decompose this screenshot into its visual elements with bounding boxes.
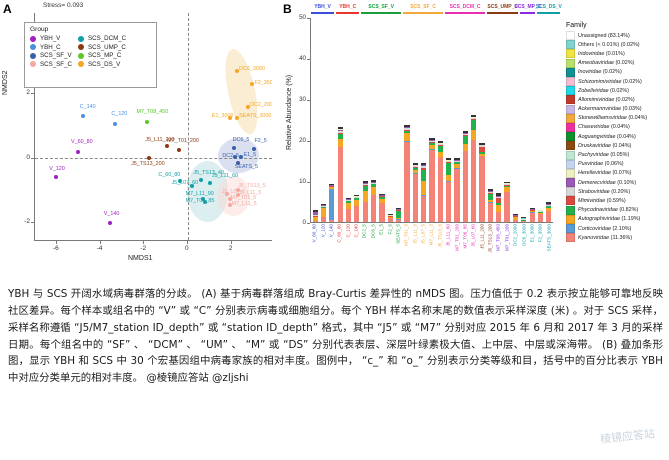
panel-b-y-tick: 30 bbox=[292, 96, 306, 103]
stacked-bar[interactable] bbox=[371, 180, 376, 222]
bar-slot bbox=[336, 18, 344, 222]
stacked-bar[interactable] bbox=[479, 143, 484, 222]
family-legend-swatch bbox=[566, 123, 575, 132]
bar-slot bbox=[478, 18, 486, 222]
family-legend-label: Druskaviridae (0.04%) bbox=[578, 143, 631, 149]
x-label-slot: DC2_2000 bbox=[511, 224, 519, 268]
stacked-bar[interactable] bbox=[546, 202, 551, 222]
stacked-bar[interactable] bbox=[321, 204, 326, 222]
group-legend-label: SCS_SF_V bbox=[40, 52, 72, 59]
family-legend-swatch bbox=[566, 169, 575, 178]
nmds-point[interactable] bbox=[54, 175, 58, 179]
stacked-bar[interactable] bbox=[396, 208, 401, 222]
stacked-bar[interactable] bbox=[463, 131, 468, 222]
group-strip-segment bbox=[311, 12, 334, 14]
bar-slot bbox=[353, 18, 361, 222]
panel-a-x-tick-mark bbox=[56, 241, 57, 244]
panel-b-x-tick-label: C_60_80 bbox=[337, 224, 342, 243]
figure-caption: YBH 与 SCS 开阔水域病毒群落的分歧。 (A) 基于病毒群落组成 Bray… bbox=[8, 286, 663, 387]
panel-b-x-tick-label: V_140 bbox=[328, 224, 333, 237]
bar-slot bbox=[378, 18, 386, 222]
family-legend-item[interactable]: Allomimiviridae (0.02%) bbox=[566, 95, 669, 104]
panel-b-y-tick-mark bbox=[307, 59, 310, 60]
group-legend-label: YBH_V bbox=[40, 35, 60, 42]
bar-segment bbox=[338, 139, 343, 146]
panel-b-x-tick-label: V_120 bbox=[320, 224, 325, 237]
family-legend-label: Corticoviridae (2.10%) bbox=[578, 226, 631, 232]
nmds-point-label: J5_TS13_5 bbox=[238, 183, 266, 189]
nmds-point-label: V_120 bbox=[49, 166, 65, 172]
x-label-slot: M7_T08_85 bbox=[461, 224, 469, 268]
nmds-point-label: DC2_2000 bbox=[250, 102, 272, 108]
group-strip-label: SCS_SF_V bbox=[368, 4, 394, 10]
bar-slot bbox=[495, 18, 503, 222]
family-legend-swatch bbox=[566, 59, 575, 68]
bar-slot bbox=[319, 18, 327, 222]
x-label-slot: M7_T01_200 bbox=[503, 224, 511, 268]
bar-slot bbox=[428, 18, 436, 222]
family-legend-swatch bbox=[566, 215, 575, 224]
panel-a-y-tick-mark bbox=[31, 93, 34, 94]
bar-slot bbox=[445, 18, 453, 222]
bar-segment bbox=[421, 170, 426, 181]
bar-slot bbox=[369, 18, 377, 222]
stacked-bar[interactable] bbox=[346, 198, 351, 222]
family-legend-swatch bbox=[566, 178, 575, 187]
group-legend-item[interactable]: SCS_MP_C bbox=[78, 52, 126, 59]
group-legend-item[interactable]: SCS_UMP_C bbox=[78, 44, 126, 51]
panel-a-x-tick-mark bbox=[187, 241, 188, 244]
panel-b-x-tick-label: M7_T01_200 bbox=[454, 224, 459, 251]
x-label-slot: V_140 bbox=[327, 224, 335, 268]
bar-segment bbox=[471, 130, 476, 139]
family-legend-label: Autographiviridae (1.19%) bbox=[578, 216, 640, 222]
bar-segment bbox=[363, 191, 368, 202]
panel-b-x-tick-label: SEATS_5 bbox=[395, 224, 400, 244]
panel-b-x-tick-label: J5_TS13_5 bbox=[437, 224, 442, 248]
family-legend-label: Zobellviridae (0.02%) bbox=[578, 88, 629, 94]
panel-b-y-tick: 40 bbox=[292, 55, 306, 62]
bar-segment bbox=[421, 196, 426, 222]
family-legend-item[interactable]: Demerecviridae (0.10%) bbox=[566, 178, 669, 187]
bar-slot bbox=[436, 18, 444, 222]
family-legend-label: Ameobaviridae (0.02%) bbox=[578, 60, 634, 66]
nmds-point[interactable] bbox=[76, 150, 80, 154]
panel-b-y-tick: 50 bbox=[292, 14, 306, 21]
family-legend-title: Family bbox=[566, 22, 669, 29]
panel-b-x-tick-label: M7_T01_200 bbox=[504, 224, 509, 251]
stacked-bar[interactable] bbox=[488, 189, 493, 222]
panel-b-x-tick-label: E1_3000 bbox=[529, 224, 534, 242]
panel-b-y-tick: 0 bbox=[292, 219, 306, 226]
family-legend-label: Ackermannviridae (0.03%) bbox=[578, 106, 642, 112]
x-label-slot: J5_TS13_5 bbox=[436, 224, 444, 268]
bar-slot bbox=[394, 18, 402, 222]
stacked-bar[interactable] bbox=[454, 158, 459, 222]
bar-segment bbox=[404, 142, 409, 222]
panel-b-x-tick-label: J5_L07_60 bbox=[471, 224, 476, 247]
family-legend-label: Schizomimiviridae (0.02%) bbox=[578, 79, 642, 85]
panel-a-x-tick-mark bbox=[231, 241, 232, 244]
bar-slot bbox=[403, 18, 411, 222]
panel-a-x-tick: -6 bbox=[48, 245, 64, 252]
group-legend-swatch bbox=[30, 53, 36, 59]
family-legend-label: Straboviridae (0.20%) bbox=[578, 189, 630, 195]
stacked-bar[interactable] bbox=[413, 163, 418, 222]
panel-b-x-tick-label: M7_T01_5 bbox=[404, 224, 409, 246]
nmds-point[interactable] bbox=[147, 156, 151, 160]
x-label-slot: E1_3000 bbox=[528, 224, 536, 268]
stacked-bar[interactable] bbox=[513, 214, 518, 222]
family-legend-item[interactable]: Kyanoviridae (11.36%) bbox=[566, 233, 669, 242]
panel-a-y-axis-label: NMDS2 bbox=[2, 70, 9, 95]
panel-b-x-tick-label: DC6_5 bbox=[370, 224, 375, 238]
group-legend-swatch bbox=[78, 61, 84, 67]
nmds-point[interactable] bbox=[165, 144, 169, 148]
group-strip-segment bbox=[445, 12, 485, 14]
stacked-bar[interactable] bbox=[521, 217, 526, 222]
nmds-point-label: SEATS_3000 bbox=[239, 113, 271, 119]
nmds-point-label: M7_T08_85 bbox=[186, 198, 215, 204]
nmds-point-label: F2_5 bbox=[254, 138, 266, 144]
group-legend: Group YBH_VYBH_CSCS_SF_VSCS_SF_C SCS_DCM… bbox=[24, 22, 157, 88]
bar-slot bbox=[453, 18, 461, 222]
bar-segment bbox=[371, 195, 376, 222]
x-label-slot: M7_L11_5 bbox=[427, 224, 435, 268]
stacked-bar[interactable] bbox=[446, 158, 451, 222]
x-label-slot: SEATS_5 bbox=[394, 224, 402, 268]
bar-slot bbox=[386, 18, 394, 222]
panel-b-x-tick-label: M7_T08_85 bbox=[462, 224, 467, 249]
family-legend-item[interactable]: Schizomimiviridae (0.02%) bbox=[566, 77, 669, 86]
stacked-bar[interactable] bbox=[388, 214, 393, 222]
panel-a-x-tick-mark bbox=[143, 241, 144, 244]
family-legend-label: Unassigned (83.14%) bbox=[578, 33, 630, 39]
panel-b-x-tick-label: E1_5 bbox=[379, 224, 384, 235]
x-label-slot: M7_T01_200 bbox=[452, 224, 460, 268]
bar-slot bbox=[536, 18, 544, 222]
family-legend-item[interactable]: Stonewilliamsviridae (0.04%) bbox=[566, 114, 669, 123]
family-legend-label: Kyanoviridae (11.36%) bbox=[578, 235, 632, 241]
bar-segment bbox=[363, 202, 368, 222]
nmds-point-label: J5_L11_60 bbox=[212, 173, 238, 179]
group-strip-label: SCS_DS_V bbox=[536, 4, 562, 10]
bar-segment bbox=[513, 220, 518, 222]
group-ellipse bbox=[219, 46, 263, 136]
nmds-point-label: C_120 bbox=[111, 111, 127, 117]
family-legend-swatch bbox=[566, 151, 575, 160]
bar-segment bbox=[346, 209, 351, 222]
family-legend-item[interactable]: Corticoviridae (2.10%) bbox=[566, 224, 669, 233]
family-legend-item[interactable]: Autographiviridae (1.19%) bbox=[566, 215, 669, 224]
panel-a-x-tick: -2 bbox=[135, 245, 151, 252]
nmds-point[interactable] bbox=[228, 116, 232, 120]
nmds-point-label: M7_L11_5 bbox=[232, 201, 257, 207]
bar-segment bbox=[313, 221, 318, 222]
panel-b-x-tick-label: M7_L11_5 bbox=[429, 224, 434, 245]
family-legend-swatch bbox=[566, 187, 575, 196]
group-legend-item[interactable]: YBH_C bbox=[30, 44, 72, 51]
nmds-point[interactable] bbox=[81, 114, 85, 118]
group-legend-swatch bbox=[78, 53, 84, 59]
x-label-slot: E1_5 bbox=[377, 224, 385, 268]
family-legend-item[interactable]: Unassigned (83.14%) bbox=[566, 31, 669, 40]
bar-slot bbox=[361, 18, 369, 222]
group-strip-segment bbox=[336, 12, 359, 14]
family-legend-item[interactable]: Phycodnaviridae (0.82%) bbox=[566, 206, 669, 215]
nmds-point-label: E1_5 bbox=[244, 152, 257, 158]
family-legend-label: Demerecviridae (0.10%) bbox=[578, 180, 636, 186]
watermark: 棱镜应答站 bbox=[599, 425, 655, 447]
group-strip-segment bbox=[487, 12, 519, 14]
nmds-point[interactable] bbox=[190, 184, 194, 188]
panel-a-y-tick-mark bbox=[31, 158, 34, 159]
family-legend-label: Phycodnaviridae (0.82%) bbox=[578, 207, 638, 213]
nmds-point-label: J5_TS13_200 bbox=[131, 161, 165, 167]
nmds-point-label: C_140 bbox=[80, 104, 96, 110]
family-legend-swatch bbox=[566, 77, 575, 86]
stacked-bar[interactable] bbox=[329, 184, 334, 222]
family-legend-swatch bbox=[566, 40, 575, 49]
family-legend-swatch bbox=[566, 233, 575, 242]
panel-a-y-tick: 0 bbox=[14, 154, 30, 161]
x-label-slot: J5_TS13_200 bbox=[486, 224, 494, 268]
nmds-point[interactable] bbox=[246, 105, 250, 109]
group-strip-segment bbox=[361, 12, 401, 14]
nmds-point[interactable] bbox=[232, 146, 236, 150]
nmds-point[interactable] bbox=[145, 120, 149, 124]
family-legend-item[interactable]: Aoguangviridae (0.04%) bbox=[566, 132, 669, 141]
stacked-bar[interactable] bbox=[471, 115, 476, 222]
group-legend-label: SCS_DS_V bbox=[88, 61, 120, 68]
x-label-slot: DC2_5 bbox=[360, 224, 368, 268]
x-label-slot: F2_3500 bbox=[536, 224, 544, 268]
group-strip-segment bbox=[403, 12, 443, 14]
bar-slot bbox=[511, 18, 519, 222]
bar-segment bbox=[446, 182, 451, 222]
bar-slot bbox=[520, 18, 528, 222]
x-label-slot: J5_L11_60 bbox=[444, 224, 452, 268]
family-legend-item[interactable]: Ackermannviridae (0.03%) bbox=[566, 105, 669, 114]
bar-segment bbox=[463, 144, 468, 151]
stacked-bar[interactable] bbox=[379, 194, 384, 222]
family-legend-swatch bbox=[566, 196, 575, 205]
stacked-bar[interactable] bbox=[429, 138, 434, 222]
x-label-slot: SEATS_3000 bbox=[545, 224, 553, 268]
group-legend-title: Group bbox=[30, 26, 151, 33]
group-legend-swatch bbox=[30, 44, 36, 50]
nmds-point[interactable] bbox=[113, 122, 117, 126]
nmds-point-label: M7_T08_450 bbox=[137, 109, 169, 115]
family-legend-swatch bbox=[566, 160, 575, 169]
panel-b-x-tick-label: C_120 bbox=[345, 224, 350, 238]
stacked-bar-plot-area bbox=[310, 18, 553, 223]
stacked-bar[interactable] bbox=[363, 181, 368, 222]
bar-segment bbox=[496, 212, 501, 222]
family-legend-item[interactable]: Herelleviridae (0.07%) bbox=[566, 169, 669, 178]
family-legend-label: Chaseviridae (0.04%) bbox=[578, 124, 630, 130]
family-legend-label: Iridoviridae (0.01%) bbox=[578, 51, 625, 57]
panel-a-y-tick: 2 bbox=[14, 89, 30, 96]
stacked-bar[interactable] bbox=[438, 141, 443, 222]
nmds-point-label: J5_L07_60 bbox=[171, 180, 198, 186]
stacked-bar[interactable] bbox=[538, 210, 543, 222]
family-legend-item[interactable]: Zobellviridae (0.02%) bbox=[566, 86, 669, 95]
bar-segment bbox=[438, 157, 443, 222]
group-strip-segment bbox=[520, 12, 535, 14]
bar-segment bbox=[396, 211, 401, 219]
group-legend-item[interactable]: SCS_SF_C bbox=[30, 61, 72, 68]
bar-segment bbox=[396, 220, 401, 222]
figure: A Stress= 0.093 NMDS2 NMDS1 V_60_80V_120… bbox=[0, 0, 669, 268]
family-legend-label: Inoviridae (0.02%) bbox=[578, 69, 622, 75]
x-label-slot: C_60_80 bbox=[335, 224, 343, 268]
bar-segment bbox=[321, 208, 326, 217]
bar-segment bbox=[546, 211, 551, 222]
family-legend-swatch bbox=[566, 68, 575, 77]
bar-segment bbox=[479, 156, 484, 222]
panel-a-letter: A bbox=[3, 2, 12, 16]
panel-b-y-tick-mark bbox=[307, 141, 310, 142]
panel-b-x-tick-label: SEATS_3000 bbox=[546, 224, 551, 252]
bar-segment bbox=[354, 206, 359, 222]
bar-slot bbox=[328, 18, 336, 222]
bar-segment bbox=[463, 136, 468, 144]
bar-segment bbox=[429, 150, 434, 222]
bar-segment bbox=[379, 203, 384, 222]
family-legend: Family Unassigned (83.14%)Others (< 0.01… bbox=[566, 22, 669, 242]
family-legend-item[interactable]: Puxviridae (0.06%) bbox=[566, 160, 669, 169]
family-legend-item[interactable]: Others (< 0.01%) (0.02%) bbox=[566, 40, 669, 49]
group-strip-label: YBH_C bbox=[339, 4, 356, 10]
nmds-point-label: DC6_5 bbox=[233, 137, 250, 143]
panel-b-y-tick-mark bbox=[307, 100, 310, 101]
group-legend-swatch bbox=[30, 36, 36, 42]
panel-a-y-tick-mark bbox=[31, 222, 34, 223]
nmds-point[interactable] bbox=[235, 69, 239, 73]
group-legend-item[interactable]: SCS_SF_V bbox=[30, 52, 72, 59]
bar-slot bbox=[528, 18, 536, 222]
family-legend-swatch bbox=[566, 31, 575, 40]
group-legend-label: SCS_MP_C bbox=[88, 52, 121, 59]
x-label-slot: J5_L07_60 bbox=[469, 224, 477, 268]
family-legend-item[interactable]: Inoviridae (0.02%) bbox=[566, 68, 669, 77]
x-label-slot: J5_L11_200 bbox=[478, 224, 486, 268]
group-strip-label: YBH_V bbox=[314, 4, 331, 10]
stacked-bar[interactable] bbox=[421, 163, 426, 222]
stacked-bar[interactable] bbox=[504, 182, 509, 222]
family-legend-label: Aoguangviridae (0.04%) bbox=[578, 134, 636, 140]
panel-b-x-tick-label: C_140 bbox=[354, 224, 359, 238]
panel-b-x-tick-label: J5_L11_200 bbox=[479, 224, 484, 249]
family-legend-item[interactable]: Druskaviridae (0.04%) bbox=[566, 141, 669, 150]
x-label-slot: C_140 bbox=[352, 224, 360, 268]
x-label-slot: J5_L11_5 bbox=[411, 224, 419, 268]
group-legend-item[interactable]: SCS_DS_V bbox=[78, 61, 126, 68]
bar-segment bbox=[471, 120, 476, 130]
bar-segment bbox=[504, 192, 509, 222]
stacked-bar[interactable] bbox=[313, 210, 318, 222]
x-label-slot: C_120 bbox=[344, 224, 352, 268]
panel-a: A Stress= 0.093 NMDS2 NMDS1 V_60_80V_120… bbox=[0, 0, 282, 268]
bars-container bbox=[311, 18, 553, 222]
nmds-point-label: M7_T01_200 bbox=[167, 138, 199, 144]
x-label-slot: F2_5 bbox=[385, 224, 393, 268]
panel-a-x-tick-mark bbox=[100, 241, 101, 244]
stacked-bar[interactable] bbox=[496, 193, 501, 222]
panel-a-y-tick: -2 bbox=[14, 218, 30, 225]
family-legend-items: Unassigned (83.14%)Others (< 0.01%) (0.0… bbox=[566, 31, 669, 242]
group-legend-swatch bbox=[78, 36, 84, 42]
group-legend-swatch bbox=[30, 61, 36, 67]
bar-segment bbox=[329, 189, 334, 220]
vertical-reference-line bbox=[188, 13, 189, 240]
bar-segment bbox=[413, 174, 418, 222]
bar-segment bbox=[404, 133, 409, 141]
stacked-bar[interactable] bbox=[338, 127, 343, 222]
panel-a-x-axis-label: NMDS1 bbox=[128, 255, 153, 262]
bar-segment bbox=[521, 221, 526, 222]
family-legend-label: Puxviridae (0.06%) bbox=[578, 161, 624, 167]
panel-b-x-tick-label: DC2_5 bbox=[362, 224, 367, 238]
family-legend-swatch bbox=[566, 224, 575, 233]
bar-segment bbox=[338, 147, 343, 222]
nmds-point[interactable] bbox=[108, 221, 112, 225]
family-legend-swatch bbox=[566, 114, 575, 123]
group-legend-label: YBH_C bbox=[40, 44, 61, 51]
group-legend-label: SCS_SF_C bbox=[40, 61, 72, 68]
group-legend-swatch bbox=[78, 44, 84, 50]
panel-b-x-tick-label: DC2_2000 bbox=[513, 224, 518, 246]
family-legend-item[interactable]: Mimiviridae (0.59%) bbox=[566, 196, 669, 205]
panel-b-x-tick-label: DC6_3000 bbox=[521, 224, 526, 246]
group-legend-column-2: SCS_DCM_CSCS_UMP_CSCS_MP_CSCS_DS_V bbox=[78, 35, 126, 69]
family-legend-swatch bbox=[566, 49, 575, 58]
bar-slot bbox=[470, 18, 478, 222]
family-legend-item[interactable]: Straboviridae (0.20%) bbox=[566, 187, 669, 196]
group-legend-label: SCS_UMP_C bbox=[88, 44, 126, 51]
group-legend-label: SCS_DCM_C bbox=[88, 35, 126, 42]
panel-b-x-tick-label: M7_T08_450 bbox=[496, 224, 501, 251]
panel-b-x-tick-label: F2_3500 bbox=[538, 224, 543, 242]
bar-slot bbox=[503, 18, 511, 222]
panel-b-y-tick: 20 bbox=[292, 137, 306, 144]
stacked-bar[interactable] bbox=[354, 195, 359, 222]
nmds-point[interactable] bbox=[177, 148, 181, 152]
family-legend-item[interactable]: Iridoviridae (0.01%) bbox=[566, 49, 669, 58]
group-legend-item[interactable]: YBH_V bbox=[30, 35, 72, 42]
x-label-slot: J5_L07_5 bbox=[419, 224, 427, 268]
panel-b: B Relative Abundance (%) YBH_VYBH_CSCS_S… bbox=[282, 0, 669, 268]
nmds-point-label: F2_3500 bbox=[254, 80, 272, 86]
family-legend-swatch bbox=[566, 141, 575, 150]
stacked-bar[interactable] bbox=[530, 208, 535, 222]
group-legend-item[interactable]: SCS_DCM_C bbox=[78, 35, 126, 42]
panel-b-x-tick-label: J5_L07_5 bbox=[421, 224, 426, 244]
bar-segment bbox=[329, 220, 334, 222]
panel-a-x-tick: 0 bbox=[179, 245, 195, 252]
family-legend-item[interactable]: Chaseviridae (0.04%) bbox=[566, 123, 669, 132]
stacked-bar[interactable] bbox=[404, 125, 409, 222]
family-legend-label: Allomimiviridae (0.02%) bbox=[578, 97, 635, 103]
x-label-slot: DC6_5 bbox=[369, 224, 377, 268]
family-legend-swatch bbox=[566, 132, 575, 141]
bar-segment bbox=[471, 140, 476, 222]
family-legend-item[interactable]: Pachyviridae (0.05%) bbox=[566, 150, 669, 159]
family-legend-item[interactable]: Ameobaviridae (0.02%) bbox=[566, 59, 669, 68]
nmds-point-label: C_60_80 bbox=[158, 172, 180, 178]
panel-a-x-tick: -4 bbox=[92, 245, 108, 252]
